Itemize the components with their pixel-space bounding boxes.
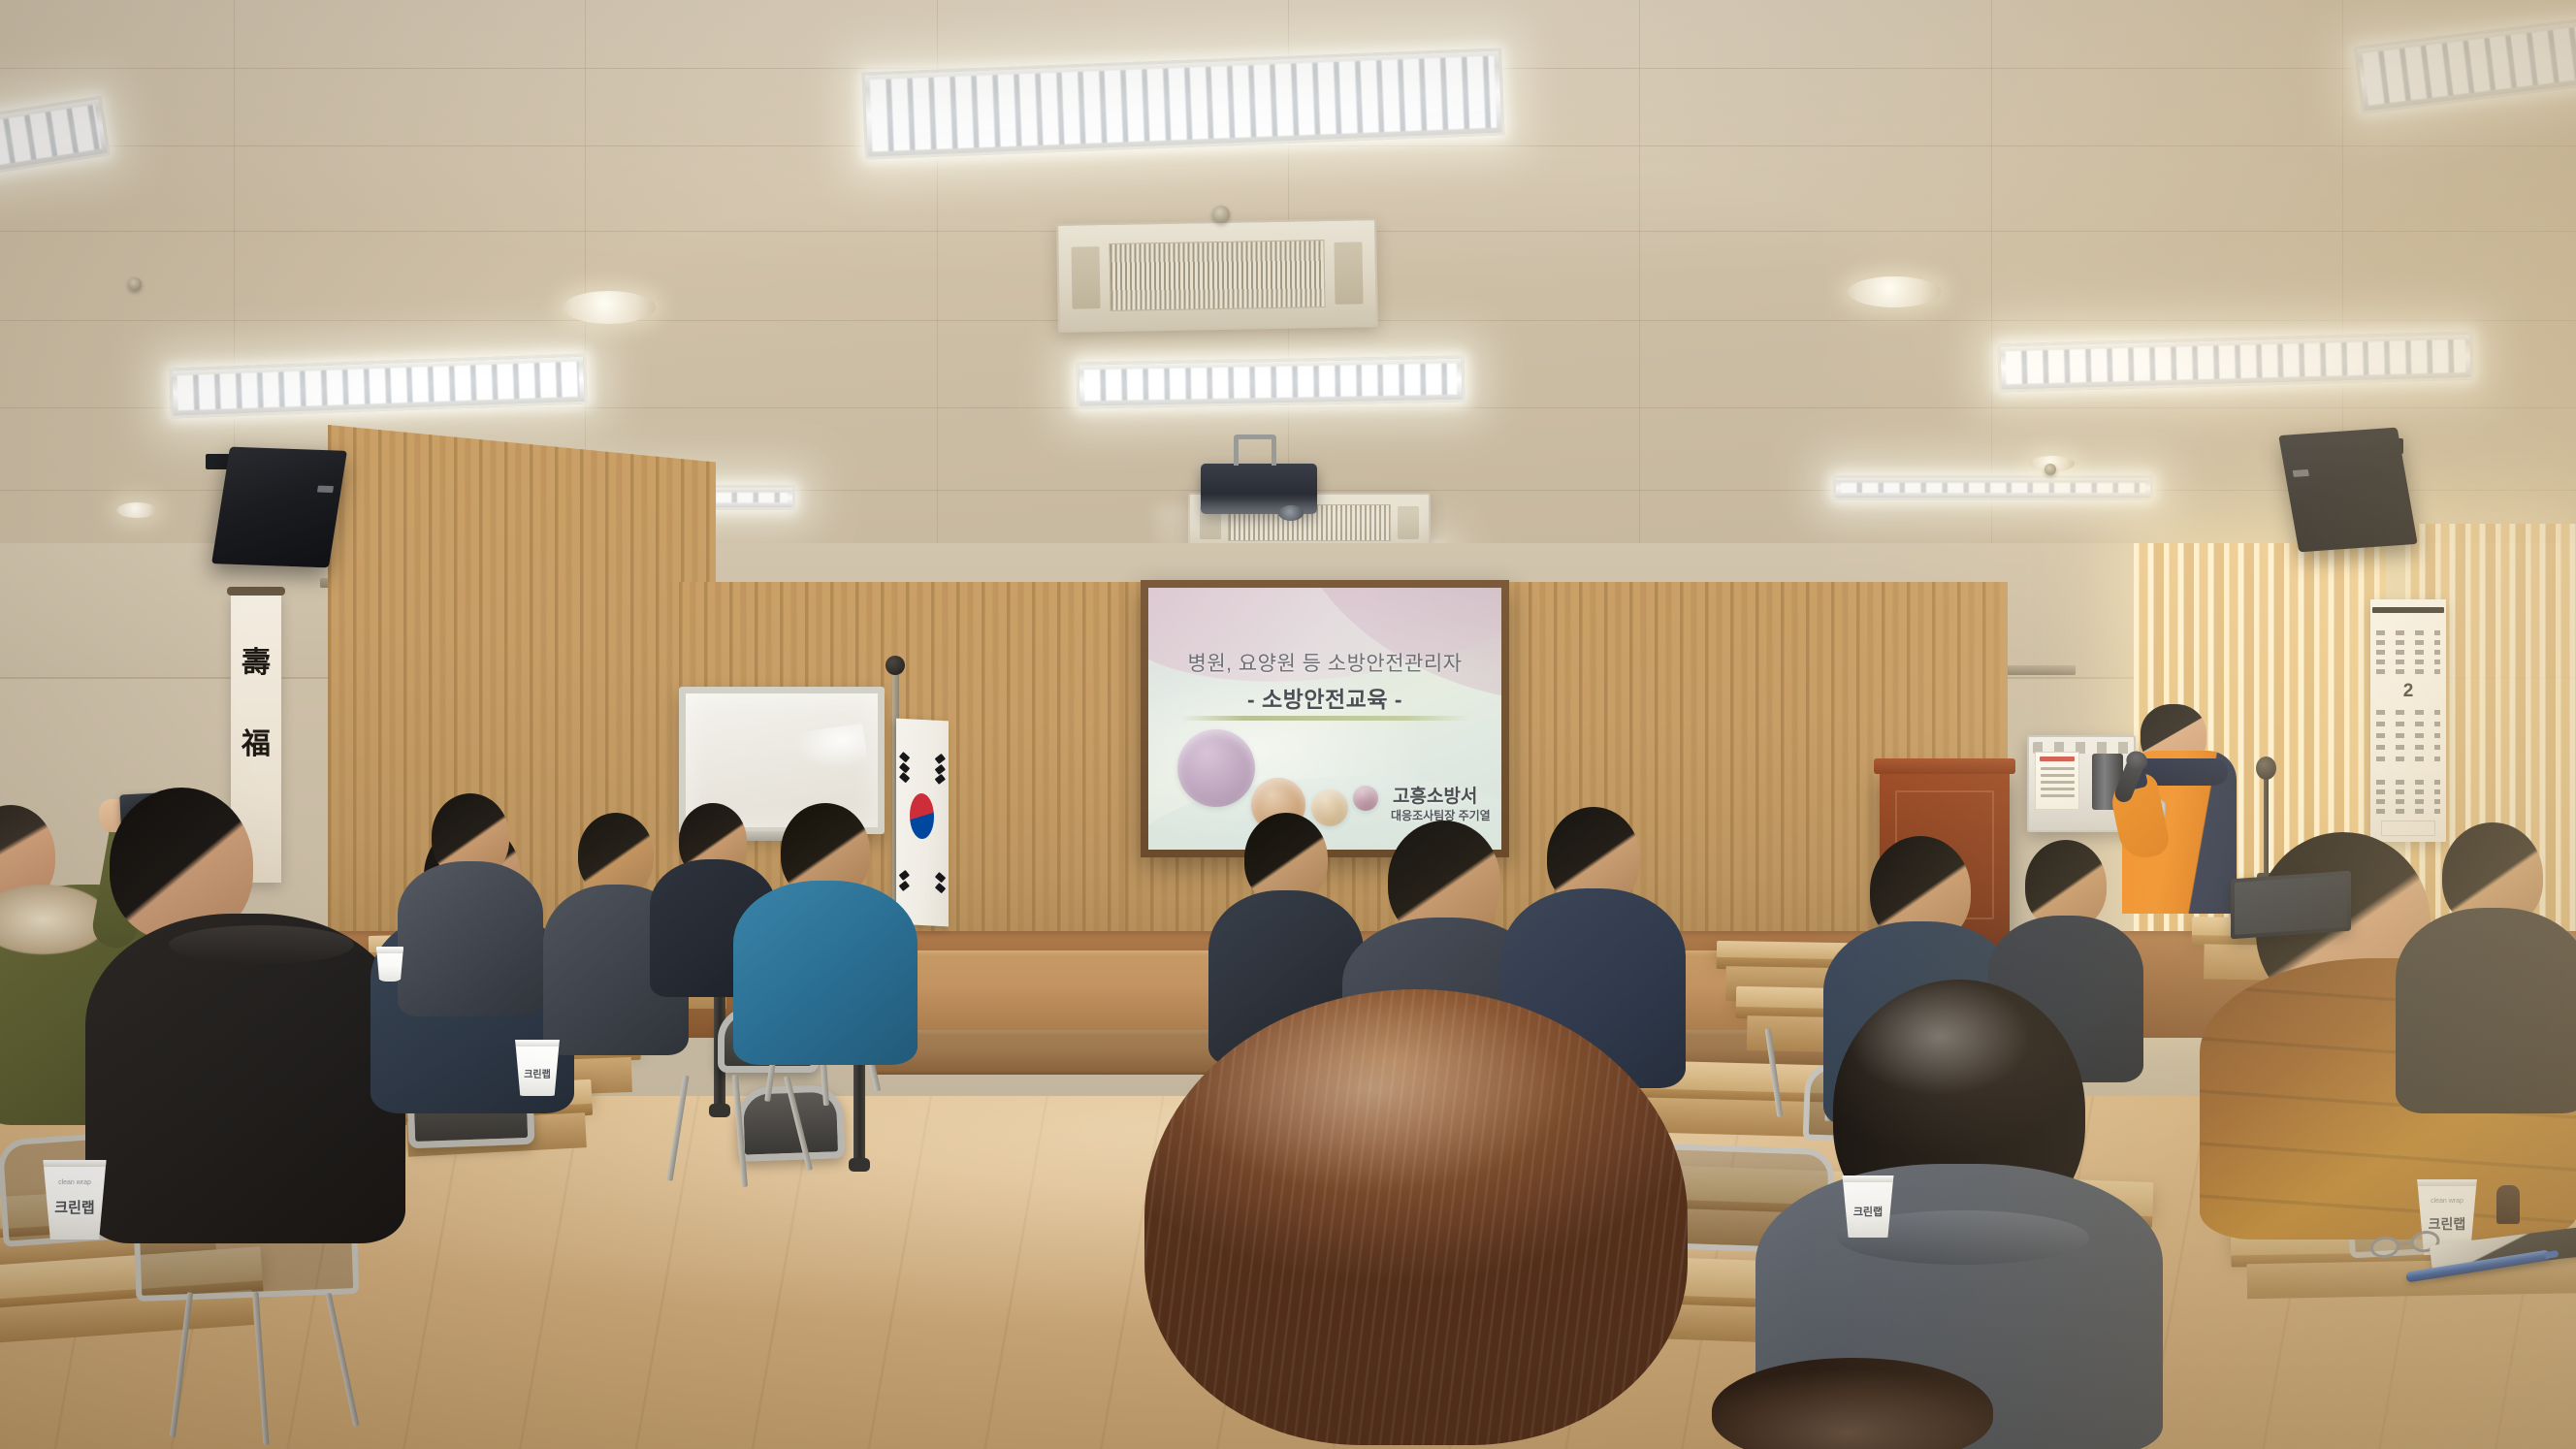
whiteboard-glare (787, 724, 869, 779)
attendee-bottom-edge (1707, 1358, 1998, 1449)
speaker-logo-badge (317, 485, 334, 492)
wall-speaker-right (2278, 428, 2418, 553)
scroll-glyph-top: 壽 (241, 638, 271, 681)
cup-rim (1839, 1175, 1897, 1182)
cup-brand-text: 크린랩 (512, 1066, 563, 1080)
wall-speaker-left (211, 447, 347, 568)
paper-cup-foreground-left: clean wrap 크린랩 (39, 1160, 111, 1240)
projector-mount-arm (1234, 435, 1276, 466)
attendee-left-grey (398, 793, 543, 1016)
attendee-head-hair (1712, 1358, 1993, 1449)
slide-divider-rule (1180, 716, 1470, 721)
lectern-top-surface (1874, 758, 2015, 774)
chair-legs-left (165, 1292, 369, 1447)
laptop-screen (2235, 875, 2347, 935)
projection-screen-surface: 병원, 요양원 등 소방안전관리자 - 소방안전교육 - 고흥소방서 대응조사팀… (1148, 588, 1501, 850)
projector-lens (1278, 505, 1304, 521)
paper-cup-left-table: 크린랩 (512, 1040, 563, 1096)
attendee-center-blue-vest (733, 803, 918, 1065)
slide-bubble-globe-small (1353, 786, 1378, 811)
speaker-logo-badge-right (2293, 469, 2309, 477)
slide-subtitle-line: - 소방안전교육 - (1148, 681, 1501, 714)
flag-finial (885, 656, 905, 675)
ceiling-projector (1201, 464, 1317, 514)
wall-calendar: 2 (2370, 599, 2446, 842)
troffer-light-front-right (1833, 475, 2153, 500)
cup-rim (512, 1040, 563, 1046)
cup-rim (2413, 1179, 2481, 1186)
scroll-glyph-bottom: 福 (241, 720, 271, 762)
paper-cup-center: 크린랩 (1839, 1175, 1897, 1238)
calendar-hanger-bar (2372, 607, 2445, 613)
cup-small-text: clean wrap (39, 1179, 111, 1186)
slide-bubble-people (1177, 729, 1255, 807)
slide-organization-name: 고흥소방서 (1393, 782, 1477, 808)
cup-rim (39, 1160, 111, 1167)
cabinet-safety-poster (2035, 752, 2078, 810)
attendee-far-right-dark (2396, 822, 2576, 1113)
downlight-left (563, 291, 656, 324)
paper-cup-back-left (374, 947, 405, 982)
downlight-right (1848, 276, 1941, 307)
cup-brand-text: 크린랩 (39, 1197, 111, 1217)
scroll-rod (227, 587, 284, 596)
attendee-foreground-woman-brown-hair (1125, 989, 1707, 1449)
slide-title-line: 병원, 요양원 등 소방안전관리자 (1148, 648, 1501, 677)
cup-small-text: clean wrap (2413, 1198, 2481, 1205)
attendee-head-hair (1144, 989, 1688, 1445)
attendee-jacket (2396, 908, 2576, 1113)
air-conditioner-cassette-back (1056, 218, 1378, 333)
attendee-jacket (398, 861, 543, 1016)
sprinkler-head-center (1212, 206, 1230, 223)
downlight-far-left (116, 502, 157, 518)
hair-highlight (1144, 989, 1688, 1445)
attendee-jacket (733, 881, 918, 1065)
sprinkler-head-left (128, 277, 142, 291)
sprinkler-head-right (2045, 464, 2056, 475)
calendar-month-number: 2 (2370, 681, 2446, 702)
cup-rim (374, 947, 405, 953)
poster-header-band (2040, 757, 2075, 761)
attendee-laptop (2231, 871, 2351, 940)
lecture-room-photo: 병원, 요양원 등 소방안전관리자 - 소방안전교육 - 고흥소방서 대응조사팀… (0, 0, 2576, 1449)
troffer-light-mid-center (1077, 356, 1465, 409)
attendee-front-left-black-coat (85, 788, 405, 1243)
rubber-stamp (2496, 1185, 2520, 1224)
attendee-collar (169, 925, 354, 964)
cup-brand-text: 크린랩 (1839, 1204, 1897, 1219)
